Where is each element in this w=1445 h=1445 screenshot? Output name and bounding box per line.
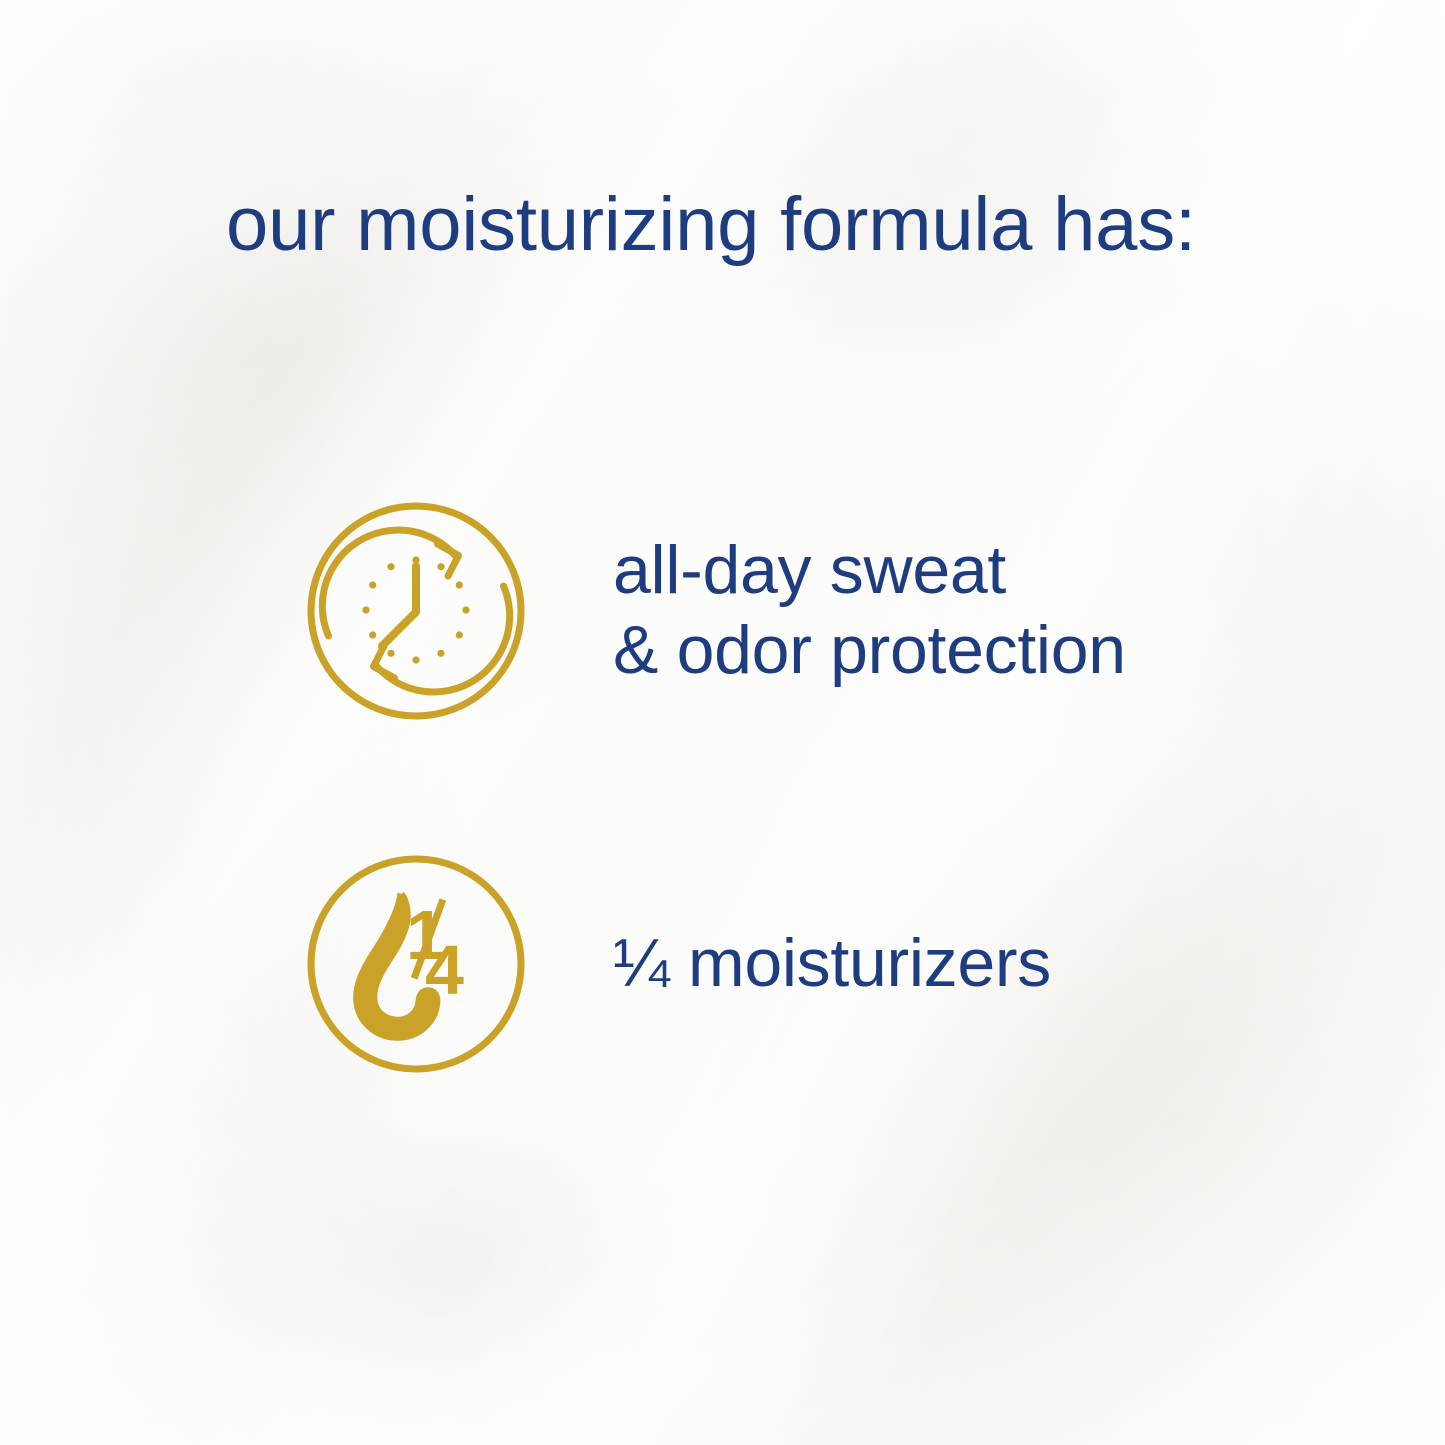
clock-rotation-icon — [303, 498, 529, 724]
benefit-label: ¼ moisturizers — [613, 924, 1051, 1004]
benefit-item-all-day-protection: all-day sweat & odor protection — [303, 498, 1126, 724]
benefit-item-moisturizers: 1 4 ¼ moisturizers — [303, 851, 1051, 1077]
product-benefits-panel: our moisturizing formula has: — [0, 0, 1445, 1445]
page-title: our moisturizing formula has: — [226, 186, 1196, 264]
fraction-denominator: 4 — [425, 931, 464, 1009]
benefit-label: all-day sweat & odor protection — [613, 531, 1126, 690]
droplet-one-quarter-icon: 1 4 — [303, 851, 529, 1077]
